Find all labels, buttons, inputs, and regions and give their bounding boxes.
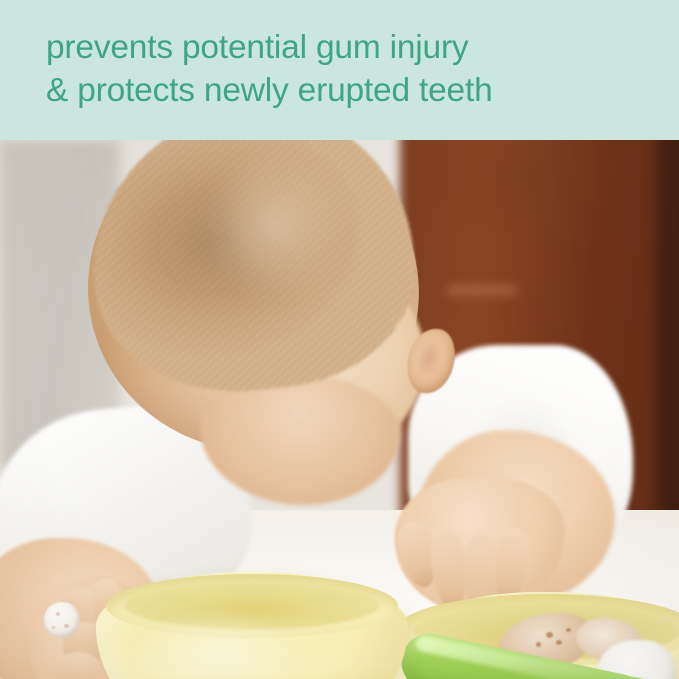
baby-hair-highlight xyxy=(200,150,350,300)
food-crumb xyxy=(566,628,571,632)
food-crumb xyxy=(546,632,553,638)
banner-headline-line-2: & protects newly erupted teeth xyxy=(46,69,493,112)
feature-banner: prevents potential gum injury & protects… xyxy=(0,0,679,140)
puff-snack-speck xyxy=(56,612,60,616)
background-wood-edge xyxy=(655,140,679,530)
product-lifestyle-photo xyxy=(0,140,679,679)
puff-snack xyxy=(44,602,80,638)
banner-headline: prevents potential gum injury & protects… xyxy=(46,26,493,112)
puff-snack-speck xyxy=(52,626,55,629)
product-feature-graphic: prevents potential gum injury & protects… xyxy=(0,0,679,679)
background-wood-slat xyxy=(447,285,517,296)
puff-snack-speck xyxy=(64,624,69,628)
food-crumb xyxy=(536,642,541,647)
food-crumb xyxy=(556,640,562,645)
banner-headline-line-1: prevents potential gum injury xyxy=(46,26,493,69)
